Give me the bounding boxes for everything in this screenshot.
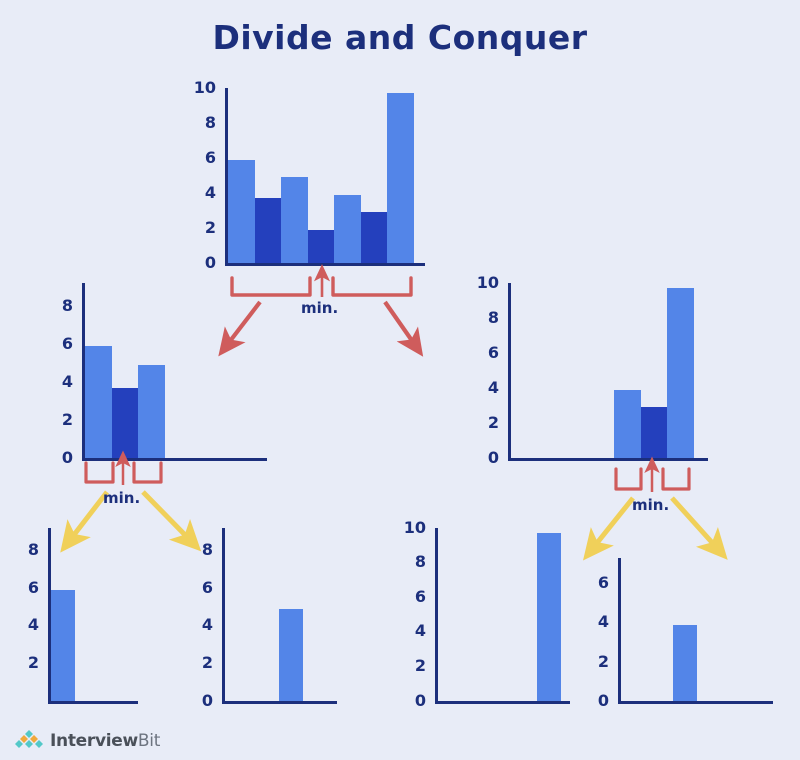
bracket-left-half-left xyxy=(86,463,113,482)
bar xyxy=(614,390,641,458)
chart-leaf-3: 0246810 xyxy=(435,528,570,706)
y-tick-label: 4 xyxy=(473,380,499,396)
y-tick-label: 4 xyxy=(400,623,426,639)
bar xyxy=(387,93,414,263)
chart-leaf-1: 2468 xyxy=(48,528,138,706)
x-axis xyxy=(225,263,425,266)
chart-leaf-4: 0246 xyxy=(618,558,773,706)
interviewbit-logo-mark xyxy=(14,729,44,753)
y-tick-label: 6 xyxy=(190,150,216,166)
bars-group xyxy=(673,558,697,701)
bar xyxy=(308,230,335,263)
y-tick-label: 8 xyxy=(187,542,213,558)
y-tick-label: 0 xyxy=(190,255,216,271)
bars-group xyxy=(228,88,414,263)
x-axis xyxy=(48,701,138,704)
y-tick-label: 6 xyxy=(13,580,39,596)
interviewbit-logo: InterviewBit xyxy=(14,729,160,753)
y-tick-label: 2 xyxy=(400,658,426,674)
y-tick-label: 2 xyxy=(13,655,39,671)
y-tick-label: 4 xyxy=(13,617,39,633)
bar xyxy=(51,590,75,701)
y-tick-label: 2 xyxy=(190,220,216,236)
chart-root: 0246810 xyxy=(225,88,425,268)
bar xyxy=(112,388,139,458)
y-tick-label: 10 xyxy=(190,80,216,96)
bar xyxy=(228,160,255,263)
y-tick-label: 2 xyxy=(47,412,73,428)
y-tick-label: 8 xyxy=(400,554,426,570)
y-tick-label: 6 xyxy=(187,580,213,596)
bracket-right-half-left xyxy=(616,469,641,489)
x-axis xyxy=(435,701,570,704)
y-tick-label: 0 xyxy=(400,693,426,709)
y-tick-label: 6 xyxy=(583,575,609,591)
bracket-root-right xyxy=(333,278,411,295)
bar xyxy=(85,346,112,458)
y-tick-label: 0 xyxy=(473,450,499,466)
y-tick-label: 4 xyxy=(583,614,609,630)
y-tick-label: 0 xyxy=(583,693,609,709)
bars-group xyxy=(537,528,561,701)
chart-leaf-2: 02468 xyxy=(222,528,337,706)
y-tick-label: 2 xyxy=(473,415,499,431)
y-tick-label: 8 xyxy=(190,115,216,131)
bar xyxy=(641,407,668,458)
logo-name-bold: Interview xyxy=(50,731,138,751)
y-tick-label: 6 xyxy=(47,336,73,352)
illustration-canvas: Divide and Conquer 0246810 02468 0246810… xyxy=(0,0,800,760)
page-title: Divide and Conquer xyxy=(0,18,800,57)
x-axis xyxy=(222,701,337,704)
interviewbit-logo-text: InterviewBit xyxy=(50,731,160,751)
bar xyxy=(673,625,697,701)
bar xyxy=(334,195,361,263)
bar xyxy=(281,177,308,263)
y-tick-label: 8 xyxy=(13,542,39,558)
split-arrow-right-half-left xyxy=(593,498,633,548)
y-tick-label: 8 xyxy=(47,298,73,314)
min-label-root: min. xyxy=(301,299,338,317)
bars-group xyxy=(614,283,694,458)
bars-group xyxy=(279,528,303,701)
split-arrow-root-right xyxy=(385,302,415,345)
x-axis xyxy=(508,458,708,461)
y-tick-label: 4 xyxy=(47,374,73,390)
y-tick-label: 4 xyxy=(187,617,213,633)
logo-name-light: Bit xyxy=(138,731,160,751)
y-tick-label: 2 xyxy=(187,655,213,671)
y-axis xyxy=(508,283,511,461)
bars-group xyxy=(85,283,165,458)
y-tick-label: 6 xyxy=(400,589,426,605)
y-axis xyxy=(435,528,438,704)
y-tick-label: 10 xyxy=(473,275,499,291)
bars-group xyxy=(51,528,75,701)
y-tick-label: 10 xyxy=(400,520,426,536)
bar xyxy=(279,609,303,701)
y-tick-label: 8 xyxy=(473,310,499,326)
y-axis xyxy=(618,558,621,704)
bracket-right-half-right xyxy=(663,469,689,489)
y-tick-label: 0 xyxy=(47,450,73,466)
y-tick-label: 2 xyxy=(583,654,609,670)
bar xyxy=(537,533,561,701)
min-label-right-half: min. xyxy=(632,496,669,514)
y-tick-label: 0 xyxy=(187,693,213,709)
bar xyxy=(667,288,694,458)
bar xyxy=(361,212,388,263)
y-tick-label: 4 xyxy=(190,185,216,201)
chart-right-half: 0246810 xyxy=(508,283,708,463)
bar xyxy=(138,365,165,458)
bracket-left-half-right xyxy=(134,463,161,482)
y-axis xyxy=(222,528,225,704)
split-arrow-left-half-right xyxy=(143,492,190,540)
min-label-left-half: min. xyxy=(103,489,140,507)
x-axis xyxy=(82,458,267,461)
bar xyxy=(255,198,282,263)
y-tick-label: 6 xyxy=(473,345,499,361)
chart-left-half: 02468 xyxy=(82,283,267,463)
x-axis xyxy=(618,701,773,704)
split-arrow-right-half-right xyxy=(672,498,717,548)
